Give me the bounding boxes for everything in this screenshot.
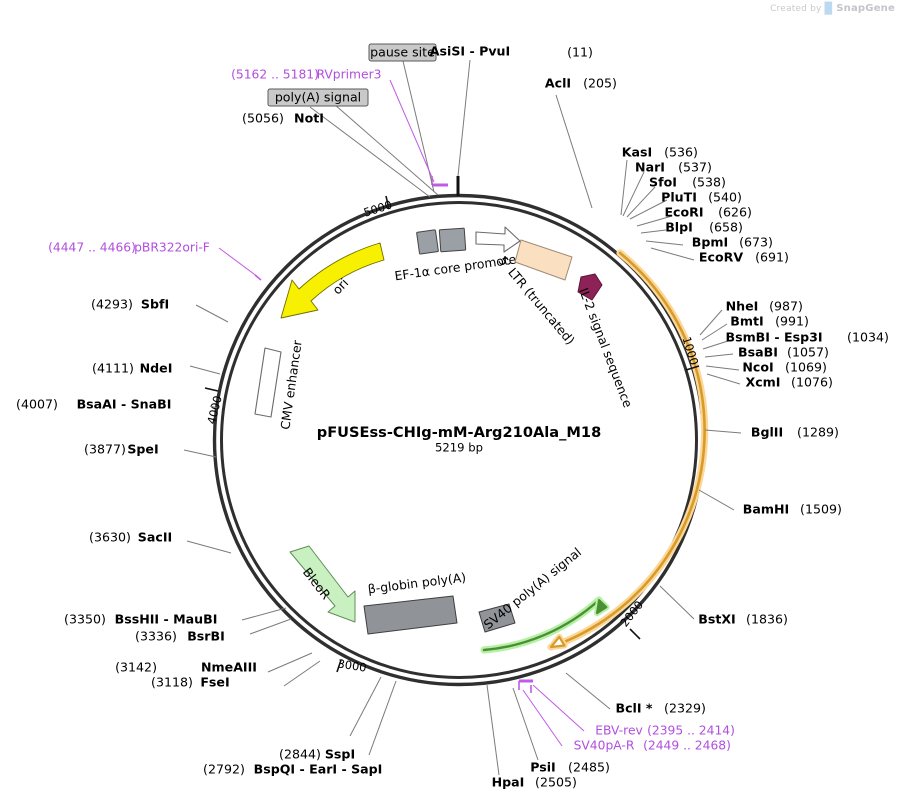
feature-small-boxes bbox=[417, 228, 466, 254]
primer-sv40pa-r[interactable]: SV40pA-R bbox=[574, 739, 635, 753]
feature-ori: ori bbox=[281, 243, 384, 318]
enzyme-pluti[interactable]: PluTI bbox=[661, 190, 697, 205]
enzyme-ecorv-pos: (691) bbox=[755, 250, 789, 265]
enzyme-bsaai-pos: (4007) bbox=[16, 397, 58, 412]
enzyme-bamhi-pos: (1509) bbox=[800, 502, 842, 517]
enzyme-nmeaiii[interactable]: NmeAIII bbox=[201, 660, 257, 675]
enzyme-bstxi[interactable]: BstXI bbox=[698, 612, 736, 627]
enzyme-bspqi-eari-sapi[interactable]: BspQI - EarI - SapI bbox=[254, 762, 383, 777]
enzyme-sbfi[interactable]: SbfI bbox=[141, 297, 169, 312]
enzyme-nhei-pos: (987) bbox=[769, 299, 803, 314]
feature-label-bglobin: β-globin poly(A) bbox=[367, 570, 467, 597]
enzyme-bsaai-snabi[interactable]: BsaAI - SnaBI bbox=[77, 397, 172, 412]
primer-ebv-rev-range: (2395 .. 2414) bbox=[647, 724, 735, 738]
enzyme-bcli-pos: (2329) bbox=[664, 701, 706, 716]
enzyme-fsei-pos: (3118) bbox=[151, 675, 193, 690]
enzyme-nari-pos: (537) bbox=[678, 160, 712, 175]
enzyme-sfoi-pos: (538) bbox=[692, 175, 726, 190]
feature-bleor: BleoR bbox=[290, 546, 355, 622]
enzyme-bpmi-pos: (673) bbox=[739, 235, 773, 250]
label-pause-site[interactable]: pause site bbox=[369, 44, 436, 61]
orf-arc-orange bbox=[551, 253, 705, 647]
enzyme-psii[interactable]: PsiI bbox=[530, 760, 556, 775]
enzyme-spei-pos: (3877) bbox=[84, 442, 126, 457]
enzyme-asisi-pvui[interactable]: AsiSI - PvuI bbox=[430, 44, 510, 59]
feature-cmv-enhancer: CMV enhancer bbox=[255, 338, 305, 430]
enzyme-spei[interactable]: SpeI bbox=[127, 442, 158, 457]
enzyme-sspi-pos: (2844) bbox=[279, 747, 321, 762]
enzyme-ndei[interactable]: NdeI bbox=[140, 361, 173, 376]
enzyme-pluti-pos: (540) bbox=[708, 190, 742, 205]
enzyme-blpi[interactable]: BlpI bbox=[665, 220, 693, 235]
feature-il2-signal: IL-2 signal sequence bbox=[576, 274, 635, 410]
enzyme-bspqi-pos: (2792) bbox=[203, 762, 245, 777]
enzyme-ndei-pos: (4111) bbox=[92, 361, 134, 376]
primer-rvprimer3-range: (5162 .. 5181) bbox=[231, 68, 319, 82]
enzyme-bglii[interactable]: BglII bbox=[751, 425, 783, 440]
enzyme-bcli[interactable]: BclI * bbox=[615, 701, 652, 716]
enzyme-bsabi[interactable]: BsaBI bbox=[738, 345, 778, 360]
enzyme-hpai[interactable]: HpaI bbox=[492, 775, 525, 790]
enzyme-bmti[interactable]: BmtI bbox=[730, 314, 763, 329]
primer-sv40pa-r-range: (2449 .. 2468) bbox=[643, 739, 731, 753]
enzyme-noti-pos: (5056) bbox=[242, 111, 284, 126]
primer-pbr322ori-f[interactable]: pBR322ori-F bbox=[134, 241, 210, 255]
label-polya-signal[interactable]: poly(A) signal bbox=[268, 89, 368, 106]
enzyme-sbfi-pos: (4293) bbox=[91, 297, 133, 312]
primer-ebv-rev[interactable]: EBV-rev bbox=[595, 724, 643, 738]
enzyme-ncoi-pos: (1069) bbox=[785, 360, 827, 375]
page-title: pFUSEss-CHIg-mM-Arg210Ala_M18 bbox=[317, 424, 602, 441]
polya-signal-label: poly(A) signal bbox=[275, 90, 361, 105]
enzyme-ecorv[interactable]: EcoRV bbox=[699, 250, 743, 265]
enzyme-nhei[interactable]: NheI bbox=[726, 299, 759, 314]
feature-label-il2: IL-2 signal sequence bbox=[576, 286, 635, 410]
enzyme-kasi[interactable]: KasI bbox=[622, 145, 652, 160]
enzyme-ecori[interactable]: EcoRI bbox=[664, 205, 703, 220]
enzyme-fsei[interactable]: FseI bbox=[200, 675, 229, 690]
enzyme-psii-pos: (2485) bbox=[568, 760, 610, 775]
enzyme-hpai-pos: (2505) bbox=[535, 775, 577, 790]
enzyme-xcmi-pos: (1076) bbox=[791, 375, 833, 390]
enzyme-bmti-pos: (991) bbox=[775, 314, 809, 329]
enzyme-bsshii-pos: (3350) bbox=[64, 612, 106, 627]
enzyme-nari[interactable]: NarI bbox=[635, 160, 665, 175]
pause-site-label: pause site bbox=[370, 45, 435, 60]
feature-5p-ltr: 5' LTR (truncated) bbox=[495, 240, 578, 348]
enzyme-bstxi-pos: (1836) bbox=[746, 612, 788, 627]
enzyme-bglii-pos: (1289) bbox=[797, 425, 839, 440]
feature-bglobin-polya: β-globin poly(A) bbox=[364, 570, 467, 634]
enzyme-ecori-pos: (626) bbox=[718, 205, 752, 220]
enzyme-bpmi[interactable]: BpmI bbox=[692, 235, 728, 250]
enzyme-acli[interactable]: AclI bbox=[545, 76, 571, 91]
enzyme-noti[interactable]: NotI bbox=[294, 111, 324, 126]
plasmid-map: 5000 1000 2000 3000 4000 ori EF-1α core … bbox=[0, 0, 903, 801]
enzyme-sacii-pos: (3630) bbox=[89, 530, 131, 545]
plasmid-size: 5219 bp bbox=[435, 441, 483, 455]
enzyme-blpi-pos: (658) bbox=[709, 220, 743, 235]
enzyme-bsmbi-esp3i[interactable]: BsmBI - Esp3I bbox=[725, 330, 822, 345]
enzyme-asisi-pvui-pos: (11) bbox=[567, 45, 593, 60]
enzyme-nmeaiii-pos: (3142) bbox=[115, 660, 157, 675]
enzyme-xcmi[interactable]: XcmI bbox=[746, 375, 781, 390]
enzyme-sacii[interactable]: SacII bbox=[138, 530, 172, 545]
enzyme-bsrbi[interactable]: BsrBI bbox=[187, 629, 225, 644]
enzyme-sspi[interactable]: SspI bbox=[325, 747, 355, 762]
enzyme-bsshii-maubi[interactable]: BssHII - MauBI bbox=[115, 612, 218, 627]
primer-pbr322ori-f-range: (4447 .. 4466) bbox=[48, 241, 136, 255]
enzyme-sfoi[interactable]: SfoI bbox=[649, 175, 677, 190]
enzyme-ncoi[interactable]: NcoI bbox=[742, 360, 773, 375]
enzyme-bamhi[interactable]: BamHI bbox=[743, 502, 789, 517]
primer-rvprimer3[interactable]: RVprimer3 bbox=[317, 68, 382, 82]
enzyme-bsabi-pos: (1057) bbox=[787, 345, 829, 360]
enzyme-acli-pos: (205) bbox=[583, 76, 617, 91]
enzyme-bsmbi-pos: (1034) bbox=[847, 330, 889, 345]
enzyme-kasi-pos: (536) bbox=[664, 145, 698, 160]
enzyme-bsrbi-pos: (3336) bbox=[135, 629, 177, 644]
tick-label-3000: 3000 bbox=[337, 656, 368, 674]
